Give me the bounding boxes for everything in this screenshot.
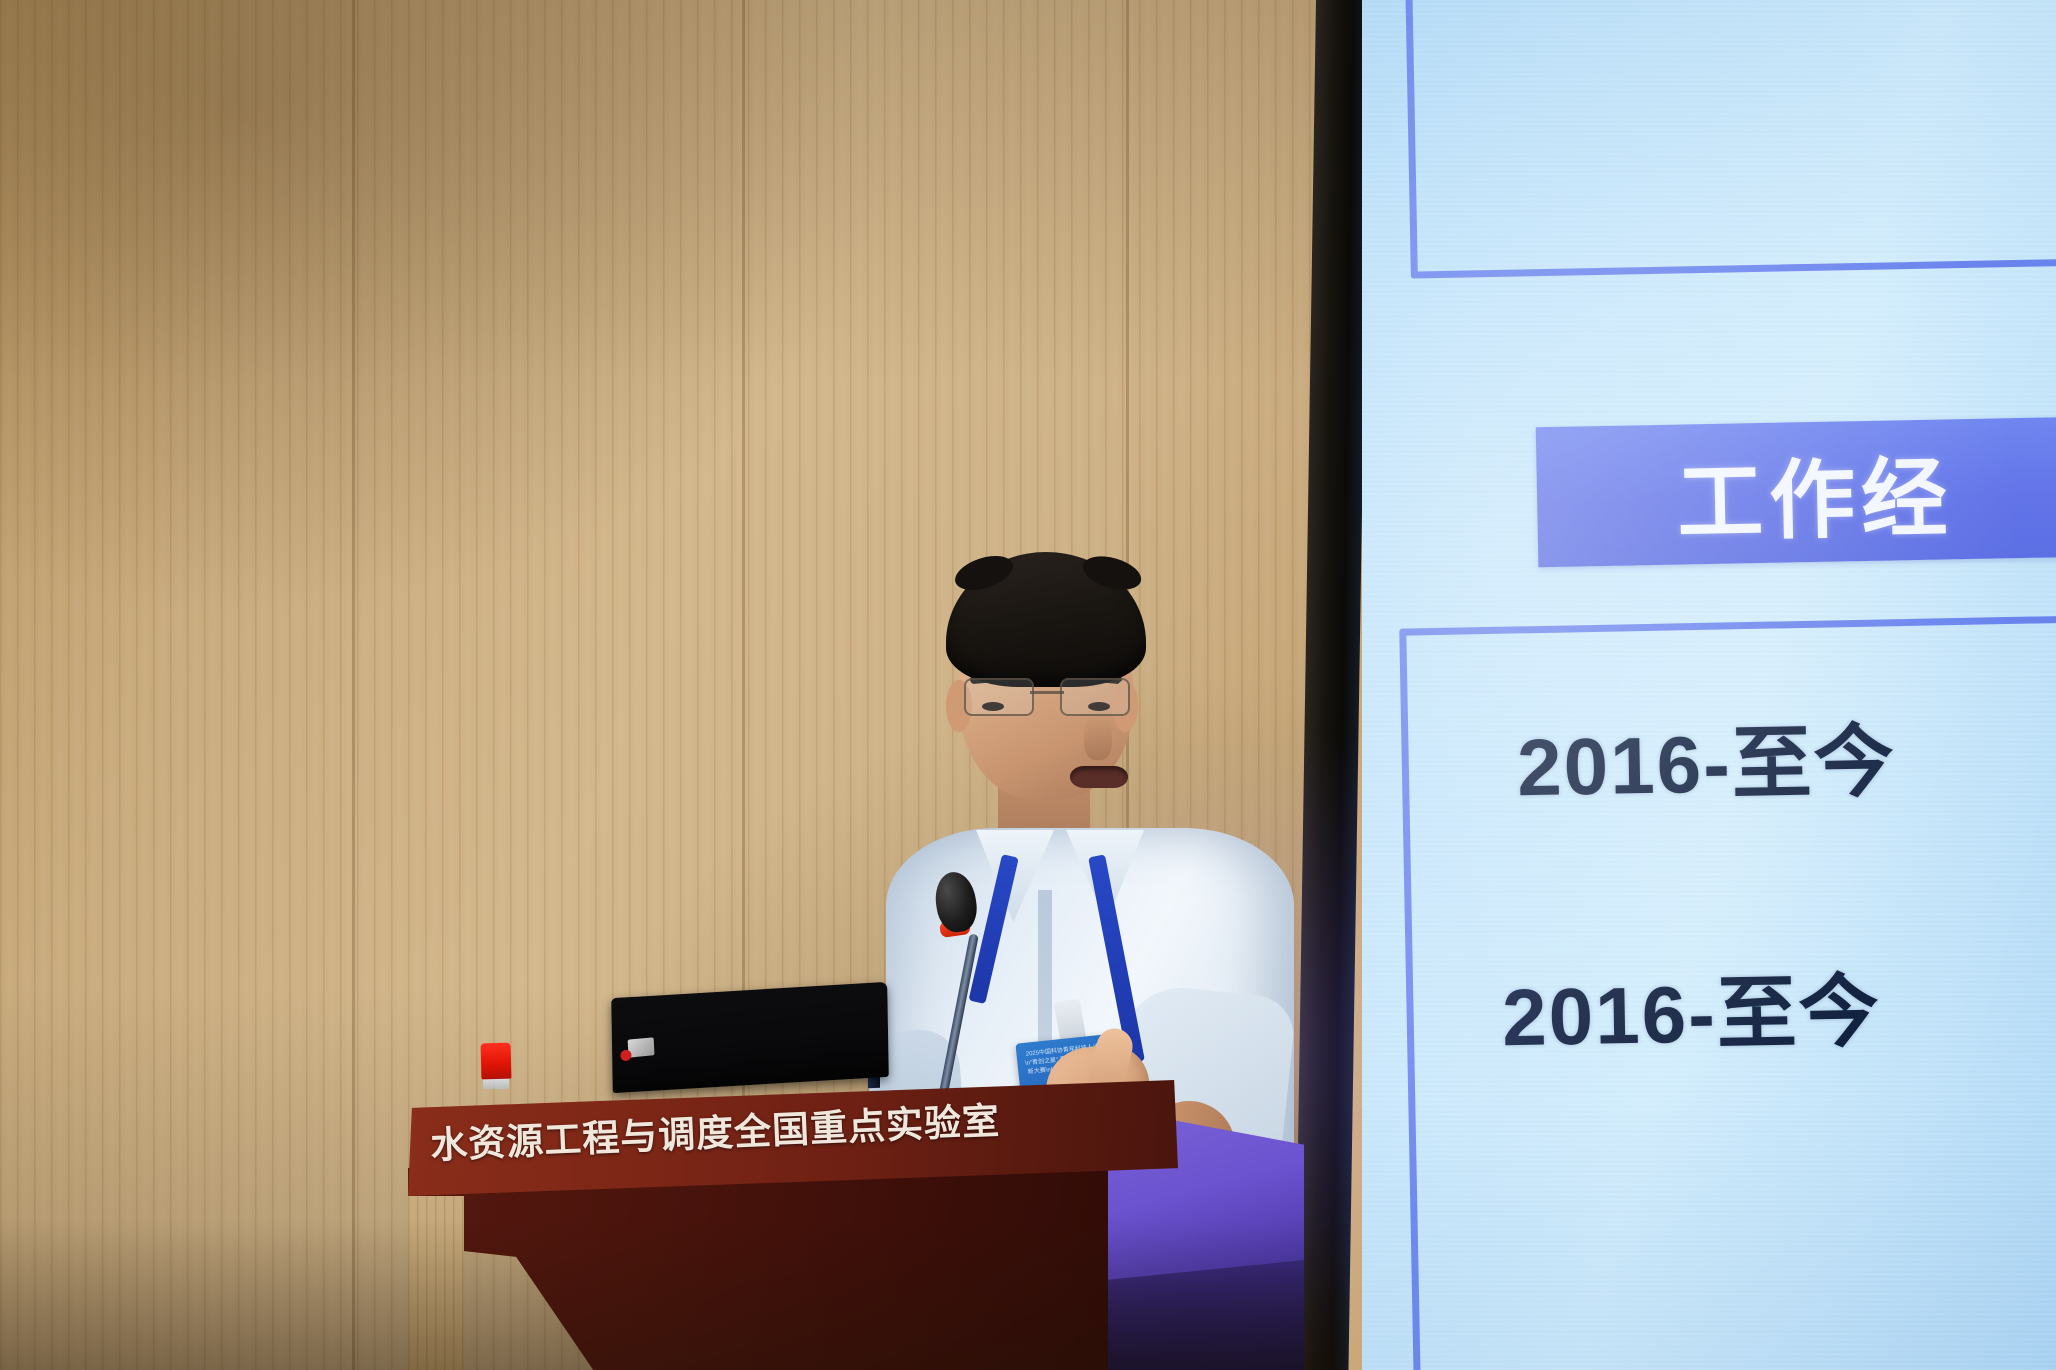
mouth (1070, 766, 1128, 788)
hair (946, 552, 1146, 687)
nose (1084, 718, 1112, 760)
laptop-logo-icon (628, 1037, 655, 1057)
lens-right (1060, 678, 1130, 716)
podium-wood-strip (408, 1196, 464, 1370)
eyeglasses (962, 678, 1132, 714)
slide-text-line-2: 2016-至今 (1501, 947, 1882, 1070)
slide-section-banner: 工作经 (1536, 413, 2056, 568)
presentation-scene: 工作经 2016-至今 2016-至今 (0, 0, 2056, 1370)
lens-left (964, 678, 1034, 716)
projection-screen: 工作经 2016-至今 2016-至今 (1362, 0, 2056, 1370)
glasses-bridge (1030, 691, 1064, 694)
slide-box-top (1403, 0, 2056, 279)
wall-seam (352, 0, 355, 1370)
slide-text-line-1: 2016-至今 (1516, 697, 1897, 820)
water-bottle-cap (481, 1043, 512, 1080)
slide-banner-label: 工作经 (1676, 427, 1954, 557)
laptop (611, 982, 889, 1093)
